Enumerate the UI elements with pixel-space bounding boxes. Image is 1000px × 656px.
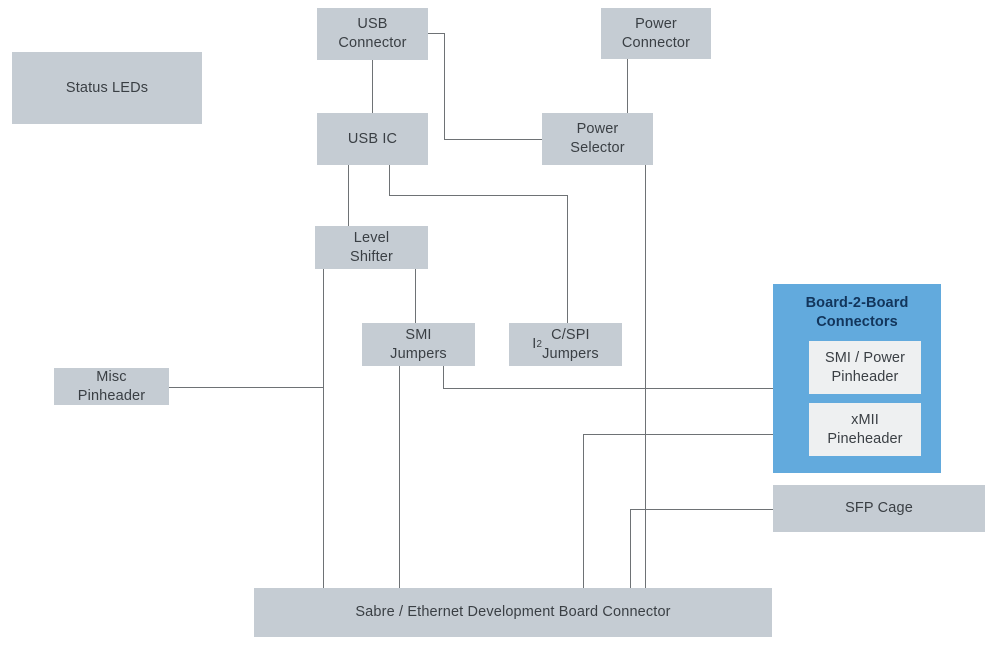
- wire-usb-connector-to-power-selector-v: [444, 33, 445, 139]
- wire-smi-jumpers-to-sabre: [399, 366, 400, 589]
- wire-power-selector-to-sabre: [645, 165, 646, 589]
- block-sfp_cage: SFP Cage: [773, 485, 985, 532]
- wire-i2c-spi-feed-down: [567, 195, 568, 324]
- wire-misc-pinheader-to-bus: [169, 387, 324, 388]
- wire-usb-connector-to-usb-ic: [372, 60, 373, 113]
- subblock-xmii_pinheader: xMII Pineheader: [809, 403, 921, 456]
- block-status_leds: Status LEDs: [12, 52, 202, 124]
- block-usb_ic: USB IC: [317, 113, 428, 165]
- wire-sfp-cage-h: [630, 509, 774, 510]
- block-i2c_spi_jumpers: I2C/SPIJumpers: [509, 323, 622, 366]
- wire-usb-connector-to-power-selector-h: [444, 139, 543, 140]
- wire-usb-connector-right-stub: [428, 33, 445, 34]
- subblock-smi_power_pinheader: SMI / Power Pinheader: [809, 341, 921, 394]
- wire-power-connector-to-selector: [627, 59, 628, 114]
- wire-level-shifter-to-smi: [415, 269, 416, 324]
- block-misc_pinheader: Misc Pinheader: [54, 368, 169, 405]
- wire-level-shifter-to-sabre: [323, 269, 324, 589]
- block-sabre_connector: Sabre / Ethernet Development Board Conne…: [254, 588, 772, 637]
- block-smi_jumpers: SMI Jumpers: [362, 323, 475, 366]
- block-level_shifter: Level Shifter: [315, 226, 428, 269]
- block-usb_connector: USB Connector: [317, 8, 428, 60]
- wire-xmii-feed-down: [583, 434, 584, 589]
- wire-usb-ic-branch-down: [389, 165, 390, 196]
- board-2-board-title: Board-2-Board Connectors: [773, 294, 941, 331]
- wire-sfp-feed-down: [630, 509, 631, 589]
- wire-usb-ic-to-level-shifter: [348, 165, 349, 227]
- block-power_selector: Power Selector: [542, 113, 653, 165]
- wire-smi-power-pinheader-h: [443, 388, 774, 389]
- wire-xmii-pinheader-h: [583, 434, 774, 435]
- block-power_connector: Power Connector: [601, 8, 711, 59]
- board-2-board-panel: Board-2-Board Connectors SMI / Power Pin…: [773, 284, 941, 473]
- wire-usb-ic-branch-right: [389, 195, 568, 196]
- block-diagram-canvas: Status LEDsUSB ConnectorPower ConnectorU…: [0, 0, 1000, 656]
- wire-smi-jumpers-branch-down: [443, 366, 444, 389]
